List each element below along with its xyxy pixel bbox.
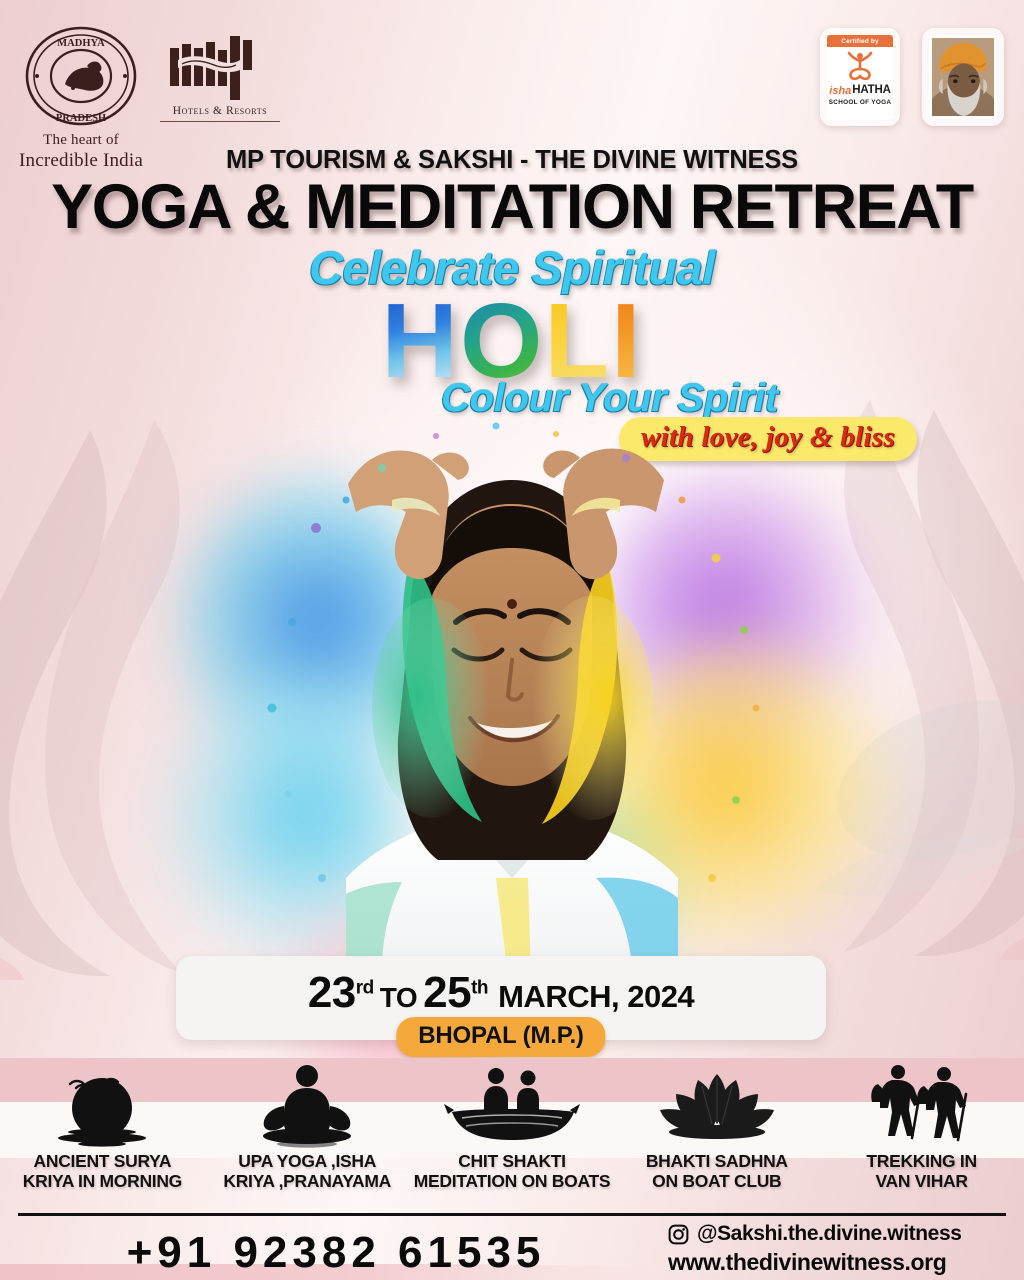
activity-label-line2: KRIYA ,PRANAYAMA: [223, 1172, 391, 1192]
activity-label: UPA YOGA ,ISHA KRIYA ,PRANAYAMA: [223, 1152, 391, 1191]
activity-label-line1: UPA YOGA ,ISHA: [223, 1152, 391, 1172]
sunrise-over-water-icon: [42, 1062, 162, 1148]
activity-label-line2: MEDITATION ON BOATS: [414, 1172, 611, 1192]
event-date-card: 23rdTO25th MARCH, 2024 BHOPAL (M.P.): [176, 956, 826, 1040]
activity-item: CHIT SHAKTI MEDITATION ON BOATS: [410, 1062, 615, 1191]
activity-item: BHAKTI SADHNA ON BOAT CLUB: [614, 1062, 819, 1191]
svg-text:PRADESH: PRADESH: [56, 113, 106, 124]
event-date-to: TO: [374, 982, 423, 1013]
event-day-end-suffix: th: [471, 977, 488, 998]
footer-divider: [18, 1213, 1006, 1216]
social-links: @Sakshi.the.divine.witness www.thedivine…: [668, 1222, 1008, 1276]
boat-with-meditators-icon: [442, 1062, 582, 1148]
trekkers-hiking-icon: [862, 1062, 982, 1148]
event-location-badge: BHOPAL (M.P.): [396, 1017, 605, 1057]
isha-certified-by-label: Certified by: [827, 35, 893, 47]
activity-item: ANCIENT SURYA KRIYA IN MORNING: [0, 1062, 205, 1191]
svg-text:MADHYA: MADHYA: [57, 38, 105, 49]
activity-label-line1: BHAKTI SADHNA: [646, 1152, 788, 1172]
activity-label-line2: VAN VIHAR: [866, 1172, 976, 1192]
mpt-tiger-logo-icon: [168, 34, 272, 100]
activity-label: BHAKTI SADHNA ON BOAT CLUB: [646, 1152, 788, 1191]
activity-label-line1: CHIT SHAKTI: [414, 1152, 611, 1172]
mpt-hotels-logo: Hotels & Resorts: [160, 34, 280, 122]
isha-hatha-word: HATHA: [852, 85, 890, 97]
event-date-line: 23rdTO25th MARCH, 2024: [176, 968, 826, 1018]
madhya-pradesh-tourism-seal-icon: MADHYA PRADESH: [21, 24, 141, 128]
page-kicker: MP TOURISM & SAKSHI - THE DIVINE WITNESS: [0, 146, 1024, 175]
isha-brand-word: isha: [829, 86, 851, 97]
activity-label: TREKKING IN VAN VIHAR: [866, 1152, 976, 1191]
activities-row: ANCIENT SURYA KRIYA IN MORNING UPA YOGA …: [0, 1062, 1024, 1191]
activity-label: CHIT SHAKTI MEDITATION ON BOATS: [414, 1152, 611, 1191]
isha-school-subtitle: SCHOOL OF YOGA: [829, 99, 892, 106]
seated-meditation-icon: [252, 1062, 362, 1148]
instagram-handle: @Sakshi.the.divine.witness: [697, 1222, 962, 1246]
guru-portrait-badge: [922, 28, 1004, 126]
event-month-year: MARCH, 2024: [498, 979, 694, 1014]
activity-label-line2: KRIYA IN MORNING: [23, 1172, 182, 1192]
activity-item: TREKKING IN VAN VIHAR: [819, 1062, 1024, 1191]
activity-label-line1: TREKKING IN: [866, 1152, 976, 1172]
mpt-subtitle: Hotels & Resorts: [160, 102, 280, 122]
page-title: YOGA & MEDITATION RETREAT: [0, 174, 1024, 240]
hero-photo: [196, 408, 828, 1008]
event-day-end: 25: [423, 968, 471, 1017]
activity-item: UPA YOGA ,ISHA KRIYA ,PRANAYAMA: [205, 1062, 410, 1191]
instagram-icon: [668, 1224, 689, 1245]
instagram-link[interactable]: @Sakshi.the.divine.witness: [668, 1222, 1008, 1246]
website-link[interactable]: www.thedivinewitness.org: [668, 1249, 1008, 1276]
activity-label: ANCIENT SURYA KRIYA IN MORNING: [23, 1152, 182, 1191]
activity-label-line1: ANCIENT SURYA: [23, 1152, 182, 1172]
activity-label-line2: ON BOAT CLUB: [646, 1172, 788, 1192]
contact-phone[interactable]: +91 92382 61535: [36, 1228, 636, 1278]
poster-canvas: MADHYA PRADESH The heart of Incredible I…: [0, 0, 1024, 1280]
event-day-start-suffix: rd: [356, 977, 374, 998]
guru-portrait-icon: [929, 35, 997, 119]
isha-hatha-certification-badge: Certified by isha HATHA SCHOOL O: [820, 28, 900, 126]
woman-holi-powder-photo-icon: [196, 408, 828, 1008]
event-day-start: 23: [308, 968, 356, 1017]
lotus-flower-icon: [652, 1062, 782, 1148]
isha-hatha-yoga-figure-icon: [843, 50, 877, 84]
